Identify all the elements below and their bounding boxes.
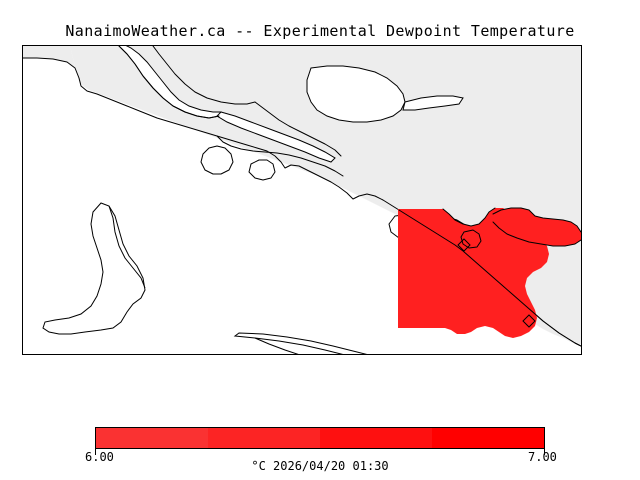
map-panel[interactable]	[22, 45, 582, 355]
upper-left-land-strip	[23, 46, 77, 74]
coastline-small-notch-b	[249, 160, 275, 180]
colorbar[interactable]	[95, 427, 545, 449]
map-canvas[interactable]	[23, 46, 582, 355]
colorbar-gradient[interactable]	[95, 427, 545, 449]
colorbar-segment	[432, 428, 544, 448]
page-title: NanaimoWeather.ca -- Experimental Dewpoi…	[0, 22, 640, 40]
islands-layer	[43, 203, 443, 355]
weather-map-page: NanaimoWeather.ca -- Experimental Dewpoi…	[0, 0, 640, 480]
colorbar-segment	[96, 428, 208, 448]
colorbar-segment	[320, 428, 432, 448]
island-long-south	[235, 333, 379, 355]
island-west-narrow	[43, 203, 145, 334]
coastline-small-notch-a	[201, 146, 233, 174]
colorbar-segment	[208, 428, 320, 448]
colorbar-caption: °C 2026/04/20 01:30	[0, 459, 640, 473]
